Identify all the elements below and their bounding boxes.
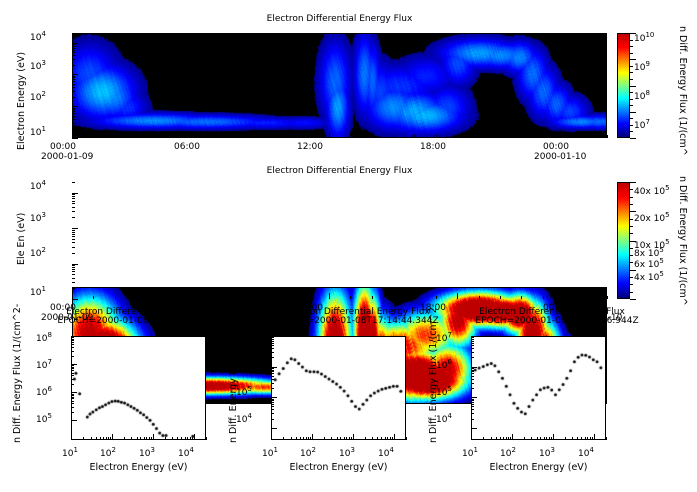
- axis-tick-mark: [471, 399, 474, 400]
- axis-tick-mark: [387, 437, 388, 440]
- bottom-panel-1-ylabel: n Diff. Energy Flux (1/(cm^2-: [12, 443, 151, 454]
- axis-tick-mark: [337, 437, 338, 440]
- colorbar-tick-mark: [630, 189, 633, 190]
- axis-tick-mark: [587, 437, 588, 440]
- axis-tick-mark: [471, 428, 477, 429]
- axis-tick-mark: [72, 87, 75, 88]
- axis-tick-mark: [286, 296, 287, 299]
- colorbar-tick-mark: [630, 92, 633, 93]
- axis-tick-mark: [457, 132, 458, 138]
- axis-tick-mark: [296, 437, 297, 440]
- axis-tick-mark: [100, 437, 101, 440]
- top-panel-date-left: 2000-01-09: [41, 152, 93, 162]
- axis-tick-mark: [136, 296, 137, 299]
- colorbar-tick-mark: [630, 241, 636, 242]
- colorbar-tick-mark: [630, 262, 633, 263]
- axis-tick-mark: [479, 135, 480, 138]
- axis-tick-mark: [243, 296, 244, 299]
- axis-tick-mark: [72, 207, 75, 208]
- axis-tick-mark: [72, 193, 78, 194]
- axis-tick-mark: [271, 373, 274, 374]
- axis-tick-mark: [72, 116, 75, 117]
- axis-tick-mark: [91, 437, 92, 440]
- axis-tick-mark: [271, 399, 274, 400]
- axis-tick-mark: [365, 437, 366, 440]
- axis-tick-mark: [271, 348, 274, 349]
- colorbar-tick-mark: [630, 125, 633, 126]
- axis-tick-mark: [71, 434, 72, 440]
- axis-tick-mark: [303, 437, 304, 440]
- axis-tick-mark: [521, 135, 522, 138]
- axis-tick-mark: [179, 135, 180, 138]
- axis-tick-mark: [72, 128, 75, 129]
- axis-tick-mark: [310, 437, 311, 440]
- middle-panel-colorbar-label: n Diff. Energy Flux (1/(cm^: [688, 176, 697, 187]
- axis-tick-mark: [381, 437, 382, 440]
- axis-tick-mark: [271, 383, 274, 384]
- axis-tick-mark: [158, 135, 159, 138]
- colorbar-tick-mark: [630, 46, 633, 47]
- colorbar-tick-mark: [630, 33, 636, 34]
- axis-tick-mark: [471, 371, 474, 372]
- axis-tick-mark: [72, 76, 75, 77]
- colorbar-tick-mark: [630, 270, 636, 271]
- axis-tick-mark: [471, 400, 474, 401]
- colorbar-tick-mark: [630, 131, 633, 132]
- axis-tick-mark: [72, 267, 75, 268]
- axis-tick-mark: [185, 437, 186, 440]
- colorbar-tick-mark: [630, 182, 636, 183]
- axis-tick-mark: [72, 247, 75, 248]
- axis-tick-mark: [72, 265, 75, 266]
- axis-tick-mark: [71, 397, 74, 398]
- axis-tick-mark: [271, 352, 274, 353]
- axis-tick-mark: [286, 135, 287, 138]
- axis-tick-mark: [479, 296, 480, 299]
- colorbar-tick-mark: [630, 86, 636, 87]
- axis-tick-mark: [457, 293, 458, 299]
- axis-tick-mark: [350, 135, 351, 138]
- axis-tick-mark: [110, 437, 111, 440]
- axis-tick-mark: [331, 437, 332, 440]
- colorbar-tick-mark: [630, 197, 633, 198]
- axis-tick-mark: [72, 108, 75, 109]
- axis-tick-mark: [83, 437, 84, 440]
- axis-tick-mark: [187, 437, 188, 440]
- colorbar-tick-mark: [630, 255, 633, 256]
- axis-tick-mark: [72, 113, 75, 114]
- axis-tick-mark: [72, 46, 75, 47]
- middle-panel-ylabel: Ele En (eV): [16, 265, 68, 276]
- axis-tick-mark: [406, 437, 407, 440]
- axis-tick-mark: [71, 342, 74, 343]
- axis-tick-mark: [372, 296, 373, 299]
- axis-tick-mark: [585, 437, 586, 440]
- axis-tick-mark: [72, 201, 75, 202]
- axis-tick-mark: [271, 402, 274, 403]
- axis-tick-mark: [531, 437, 532, 440]
- axis-tick-mark: [181, 437, 182, 440]
- axis-tick-mark: [71, 344, 74, 345]
- axis-tick-mark: [271, 388, 274, 389]
- axis-tick-mark: [283, 437, 284, 440]
- axis-tick-mark: [546, 437, 547, 440]
- axis-tick-mark: [72, 274, 75, 275]
- axis-tick-mark: [72, 111, 75, 112]
- axis-tick-mark: [72, 282, 75, 283]
- axis-tick-mark: [265, 296, 266, 299]
- axis-tick-mark: [521, 296, 522, 299]
- axis-tick-mark: [72, 91, 75, 92]
- axis-tick-mark: [390, 437, 391, 440]
- colorbar-tick-mark: [630, 105, 633, 106]
- axis-tick-mark: [140, 437, 141, 440]
- axis-tick-mark: [72, 43, 78, 44]
- axis-tick-mark: [271, 337, 274, 338]
- axis-tick-mark: [414, 296, 415, 299]
- axis-tick-mark: [71, 379, 74, 380]
- axis-tick-mark: [307, 135, 308, 138]
- axis-tick-mark: [271, 368, 274, 369]
- axis-tick-mark: [271, 376, 274, 377]
- colorbar-tick-mark: [630, 204, 633, 205]
- axis-tick-mark: [543, 296, 544, 299]
- colorbar-tick-mark: [630, 138, 636, 139]
- axis-tick-mark: [394, 434, 395, 440]
- colorbar-tick-mark: [630, 277, 633, 278]
- axis-tick-mark: [329, 132, 330, 138]
- axis-tick-mark: [71, 351, 74, 352]
- axis-tick-mark: [471, 373, 474, 374]
- bottom-panel-3-plot[interactable]: [471, 336, 606, 440]
- axis-tick-mark: [72, 119, 75, 120]
- axis-tick-mark: [72, 74, 78, 75]
- axis-tick-mark: [144, 437, 145, 440]
- axis-tick-mark: [471, 434, 472, 440]
- axis-tick-mark: [500, 437, 501, 440]
- axis-tick-mark: [306, 437, 307, 440]
- axis-tick-mark: [72, 232, 75, 233]
- axis-tick-mark: [577, 437, 578, 440]
- axis-tick-mark: [271, 341, 274, 342]
- axis-tick-mark: [300, 437, 301, 440]
- axis-tick-mark: [72, 236, 75, 237]
- axis-tick-mark: [543, 135, 544, 138]
- axis-tick-mark: [71, 412, 74, 413]
- axis-tick-mark: [503, 437, 504, 440]
- axis-tick-mark: [471, 343, 474, 344]
- bottom-panel-3-xlabel: Electron Energy (eV): [471, 462, 606, 473]
- axis-tick-mark: [372, 135, 373, 138]
- axis-tick-mark: [537, 437, 538, 440]
- axis-tick-mark: [153, 434, 154, 440]
- axis-tick-mark: [71, 365, 74, 366]
- axis-tick-mark: [512, 434, 513, 440]
- colorbar-tick-mark: [630, 233, 633, 234]
- bottom-panel-1-plot[interactable]: [71, 336, 206, 440]
- axis-tick-mark: [192, 437, 193, 440]
- axis-tick-mark: [72, 228, 78, 229]
- axis-tick-mark: [151, 437, 152, 440]
- axis-tick-mark: [471, 348, 474, 349]
- axis-tick-mark: [72, 44, 75, 45]
- top-panel-colorbar[interactable]: [617, 33, 630, 138]
- colorbar-tick-mark: [630, 79, 633, 80]
- axis-tick-mark: [136, 135, 137, 138]
- axis-tick-mark: [72, 203, 75, 204]
- axis-tick-mark: [72, 217, 75, 218]
- axis-tick-mark: [592, 437, 593, 440]
- colorbar-tick-mark: [630, 284, 633, 285]
- axis-tick-mark: [72, 182, 75, 183]
- axis-tick-mark: [71, 420, 77, 421]
- axis-tick-mark: [72, 123, 75, 124]
- axis-tick-mark: [149, 437, 150, 440]
- axis-tick-mark: [271, 397, 277, 398]
- axis-tick-mark: [72, 293, 73, 299]
- axis-tick-mark: [471, 409, 474, 410]
- axis-tick-mark: [146, 437, 147, 440]
- axis-tick-mark: [103, 437, 104, 440]
- axis-tick-mark: [324, 437, 325, 440]
- axis-tick-mark: [549, 437, 550, 440]
- bottom-panel-2-xlabel: Electron Energy (eV): [271, 462, 406, 473]
- bottom-panel-2-plot[interactable]: [271, 336, 406, 440]
- axis-tick-mark: [194, 434, 195, 440]
- axis-tick-mark: [271, 370, 274, 371]
- top-panel-title: Electron Differential Energy Flux: [72, 14, 607, 24]
- axis-tick-mark: [471, 345, 474, 346]
- axis-tick-mark: [471, 379, 474, 380]
- axis-tick-mark: [71, 407, 74, 408]
- axis-tick-mark: [71, 337, 74, 338]
- axis-tick-mark: [500, 135, 501, 138]
- axis-tick-mark: [71, 340, 74, 341]
- axis-tick-mark: [471, 370, 474, 371]
- axis-tick-mark: [71, 398, 74, 399]
- axis-tick-mark: [177, 437, 178, 440]
- axis-tick-mark: [72, 278, 75, 279]
- axis-tick-mark: [471, 339, 474, 340]
- axis-tick-mark: [291, 437, 292, 440]
- colorbar-tick-mark: [630, 292, 633, 293]
- axis-tick-mark: [71, 373, 74, 374]
- axis-tick-mark: [71, 394, 74, 395]
- axis-tick-mark: [222, 296, 223, 299]
- axis-tick-mark: [72, 264, 78, 265]
- axis-tick-mark: [471, 367, 477, 368]
- axis-tick-mark: [312, 434, 313, 440]
- axis-tick-mark: [471, 337, 474, 338]
- axis-tick-mark: [436, 296, 437, 299]
- axis-tick-mark: [471, 397, 477, 398]
- axis-tick-mark: [71, 364, 77, 365]
- axis-tick-mark: [385, 437, 386, 440]
- axis-tick-mark: [71, 370, 74, 371]
- axis-tick-mark: [353, 434, 354, 440]
- axis-tick-mark: [471, 404, 474, 405]
- axis-tick-mark: [106, 437, 107, 440]
- axis-tick-mark: [93, 296, 94, 299]
- axis-tick-mark: [72, 109, 75, 110]
- axis-tick-mark: [471, 383, 474, 384]
- axis-tick-mark: [471, 352, 474, 353]
- axis-tick-mark: [72, 299, 78, 300]
- middle-panel-colorbar[interactable]: [617, 182, 630, 299]
- axis-tick-mark: [340, 437, 341, 440]
- axis-tick-mark: [564, 135, 565, 138]
- axis-tick-mark: [72, 234, 75, 235]
- colorbar-tick-mark: [630, 53, 633, 54]
- axis-tick-mark: [72, 77, 75, 78]
- axis-tick-mark: [346, 437, 347, 440]
- axis-tick-mark: [222, 135, 223, 138]
- axis-tick-mark: [344, 437, 345, 440]
- axis-tick-mark: [510, 437, 511, 440]
- axis-tick-mark: [607, 135, 608, 138]
- axis-tick-mark: [115, 135, 116, 138]
- axis-tick-mark: [594, 434, 595, 440]
- axis-tick-mark: [72, 288, 75, 289]
- axis-tick-mark: [551, 437, 552, 440]
- axis-tick-mark: [372, 437, 373, 440]
- axis-tick-mark: [112, 434, 113, 440]
- axis-tick-mark: [72, 132, 73, 138]
- axis-tick-mark: [71, 401, 74, 402]
- axis-tick-mark: [377, 437, 378, 440]
- axis-tick-mark: [471, 336, 477, 337]
- axis-tick-mark: [72, 97, 75, 98]
- axis-tick-mark: [491, 437, 492, 440]
- axis-tick-mark: [508, 437, 509, 440]
- axis-tick-mark: [271, 406, 274, 407]
- axis-tick-mark: [206, 437, 207, 440]
- axis-tick-mark: [271, 336, 277, 337]
- axis-tick-mark: [93, 135, 94, 138]
- axis-tick-mark: [271, 400, 274, 401]
- axis-tick-mark: [179, 296, 180, 299]
- axis-tick-mark: [72, 211, 75, 212]
- axis-tick-mark: [351, 437, 352, 440]
- axis-tick-mark: [271, 357, 274, 358]
- axis-tick-mark: [72, 48, 75, 49]
- axis-tick-mark: [72, 55, 75, 56]
- colorbar-tick-mark: [630, 248, 633, 249]
- axis-tick-mark: [496, 437, 497, 440]
- axis-tick-mark: [72, 106, 78, 107]
- axis-tick-mark: [506, 437, 507, 440]
- axis-tick-mark: [71, 367, 74, 368]
- axis-tick-mark: [586, 132, 587, 138]
- axis-tick-mark: [471, 368, 474, 369]
- colorbar-tick-mark: [630, 99, 633, 100]
- axis-tick-mark: [200, 293, 201, 299]
- top-panel-date-right: 2000-01-10: [534, 152, 586, 162]
- axis-tick-mark: [72, 33, 75, 34]
- axis-tick-mark: [471, 376, 474, 377]
- axis-tick-mark: [71, 375, 74, 376]
- axis-tick-mark: [71, 336, 77, 337]
- axis-tick-mark: [271, 339, 274, 340]
- axis-tick-mark: [71, 392, 77, 393]
- axis-tick-mark: [108, 437, 109, 440]
- bottom-panel-1-xlabel: Electron Energy (eV): [71, 462, 206, 473]
- axis-tick-mark: [271, 367, 277, 368]
- axis-tick-mark: [243, 135, 244, 138]
- axis-tick-mark: [72, 198, 75, 199]
- axis-tick-mark: [72, 65, 75, 66]
- axis-tick-mark: [572, 437, 573, 440]
- axis-tick-mark: [308, 437, 309, 440]
- axis-tick-mark: [471, 402, 474, 403]
- axis-tick-mark: [392, 437, 393, 440]
- axis-tick-mark: [190, 437, 191, 440]
- axis-tick-mark: [271, 379, 274, 380]
- axis-tick-mark: [200, 132, 201, 138]
- axis-tick-mark: [564, 296, 565, 299]
- top-panel-spectrogram[interactable]: [72, 33, 607, 138]
- axis-tick-mark: [265, 135, 266, 138]
- axis-tick-mark: [544, 437, 545, 440]
- axis-tick-mark: [165, 437, 166, 440]
- axis-tick-mark: [72, 50, 75, 51]
- colorbar-tick-mark: [630, 219, 633, 220]
- axis-tick-mark: [72, 271, 75, 272]
- axis-tick-mark: [471, 341, 474, 342]
- axis-tick-mark: [71, 347, 74, 348]
- axis-tick-mark: [524, 437, 525, 440]
- axis-tick-mark: [349, 437, 350, 440]
- axis-tick-mark: [414, 135, 415, 138]
- axis-tick-mark: [72, 239, 75, 240]
- axis-tick-mark: [471, 406, 474, 407]
- axis-tick-mark: [71, 395, 74, 396]
- axis-tick-mark: [471, 413, 474, 414]
- axis-tick-mark: [271, 345, 274, 346]
- axis-tick-mark: [137, 437, 138, 440]
- axis-tick-mark: [96, 437, 97, 440]
- axis-tick-mark: [553, 434, 554, 440]
- axis-tick-mark: [350, 296, 351, 299]
- bottom-panel-3-epoch: EPOCH=2000-01-08T20:20:06.944Z: [452, 316, 662, 326]
- colorbar-tick-mark: [630, 72, 633, 73]
- axis-tick-mark: [72, 52, 75, 53]
- axis-tick-mark: [71, 339, 74, 340]
- colorbar-tick-mark: [630, 66, 633, 67]
- axis-tick-mark: [72, 81, 75, 82]
- axis-tick-mark: [72, 138, 78, 139]
- axis-tick-mark: [540, 437, 541, 440]
- colorbar-tick-mark: [630, 40, 633, 41]
- axis-tick-mark: [72, 230, 75, 231]
- axis-tick-mark: [72, 242, 75, 243]
- axis-tick-mark: [71, 384, 74, 385]
- axis-tick-mark: [158, 296, 159, 299]
- axis-tick-mark: [393, 296, 394, 299]
- axis-tick-mark: [307, 296, 308, 299]
- axis-tick-mark: [271, 371, 274, 372]
- bottom-panel-1-epoch: EPOCH=2000-01-08T12:27:14.344Z: [34, 316, 244, 326]
- axis-tick-mark: [500, 296, 501, 299]
- axis-tick-mark: [606, 437, 607, 440]
- axis-tick-mark: [581, 437, 582, 440]
- colorbar-tick-mark: [630, 112, 636, 113]
- axis-tick-mark: [271, 434, 272, 440]
- axis-tick-mark: [607, 296, 608, 299]
- top-panel-colorbar-label: n Diff. Energy Flux (1/(cm^: [688, 26, 697, 37]
- axis-tick-mark: [565, 437, 566, 440]
- colorbar-tick-mark: [630, 211, 636, 212]
